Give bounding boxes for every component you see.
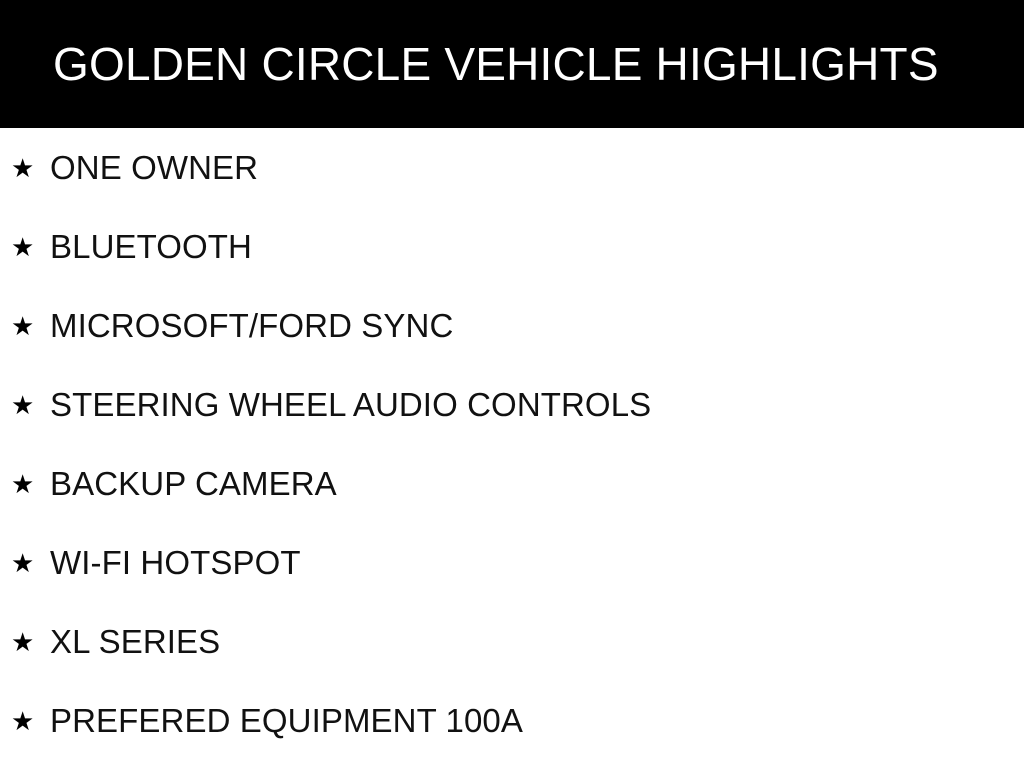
highlight-label: ONE OWNER	[50, 149, 1024, 187]
highlight-label: STEERING WHEEL AUDIO CONTROLS	[50, 386, 1024, 424]
highlight-label: BACKUP CAMERA	[50, 465, 1024, 503]
star-icon: ★	[11, 708, 33, 734]
star-icon: ★	[11, 313, 33, 339]
star-icon: ★	[11, 155, 33, 181]
star-icon: ★	[11, 392, 33, 418]
list-item: ★ WI-FI HOTSPOT	[0, 523, 1024, 602]
highlight-label: PREFERED EQUIPMENT 100A	[50, 702, 1024, 740]
list-item: ★ STEERING WHEEL AUDIO CONTROLS	[0, 365, 1024, 444]
title-banner: GOLDEN CIRCLE VEHICLE HIGHLIGHTS	[0, 0, 1024, 128]
highlight-label: WI-FI HOTSPOT	[50, 544, 1024, 582]
star-icon: ★	[11, 629, 33, 655]
star-icon: ★	[11, 471, 33, 497]
list-item: ★ XL SERIES	[0, 602, 1024, 681]
page-title: GOLDEN CIRCLE VEHICLE HIGHLIGHTS	[53, 37, 939, 91]
highlight-label: MICROSOFT/FORD SYNC	[50, 307, 1024, 345]
list-item: ★ BACKUP CAMERA	[0, 444, 1024, 523]
list-item: ★ MICROSOFT/FORD SYNC	[0, 286, 1024, 365]
highlights-list: ★ ONE OWNER ★ BLUETOOTH ★ MICROSOFT/FORD…	[0, 128, 1024, 760]
highlight-label: BLUETOOTH	[50, 228, 1024, 266]
list-item: ★ ONE OWNER	[0, 128, 1024, 207]
vehicle-highlights-page: GOLDEN CIRCLE VEHICLE HIGHLIGHTS ★ ONE O…	[0, 0, 1024, 768]
highlight-label: XL SERIES	[50, 623, 1024, 661]
star-icon: ★	[11, 234, 33, 260]
list-item: ★ BLUETOOTH	[0, 207, 1024, 286]
list-item: ★ PREFERED EQUIPMENT 100A	[0, 681, 1024, 760]
star-icon: ★	[11, 550, 33, 576]
